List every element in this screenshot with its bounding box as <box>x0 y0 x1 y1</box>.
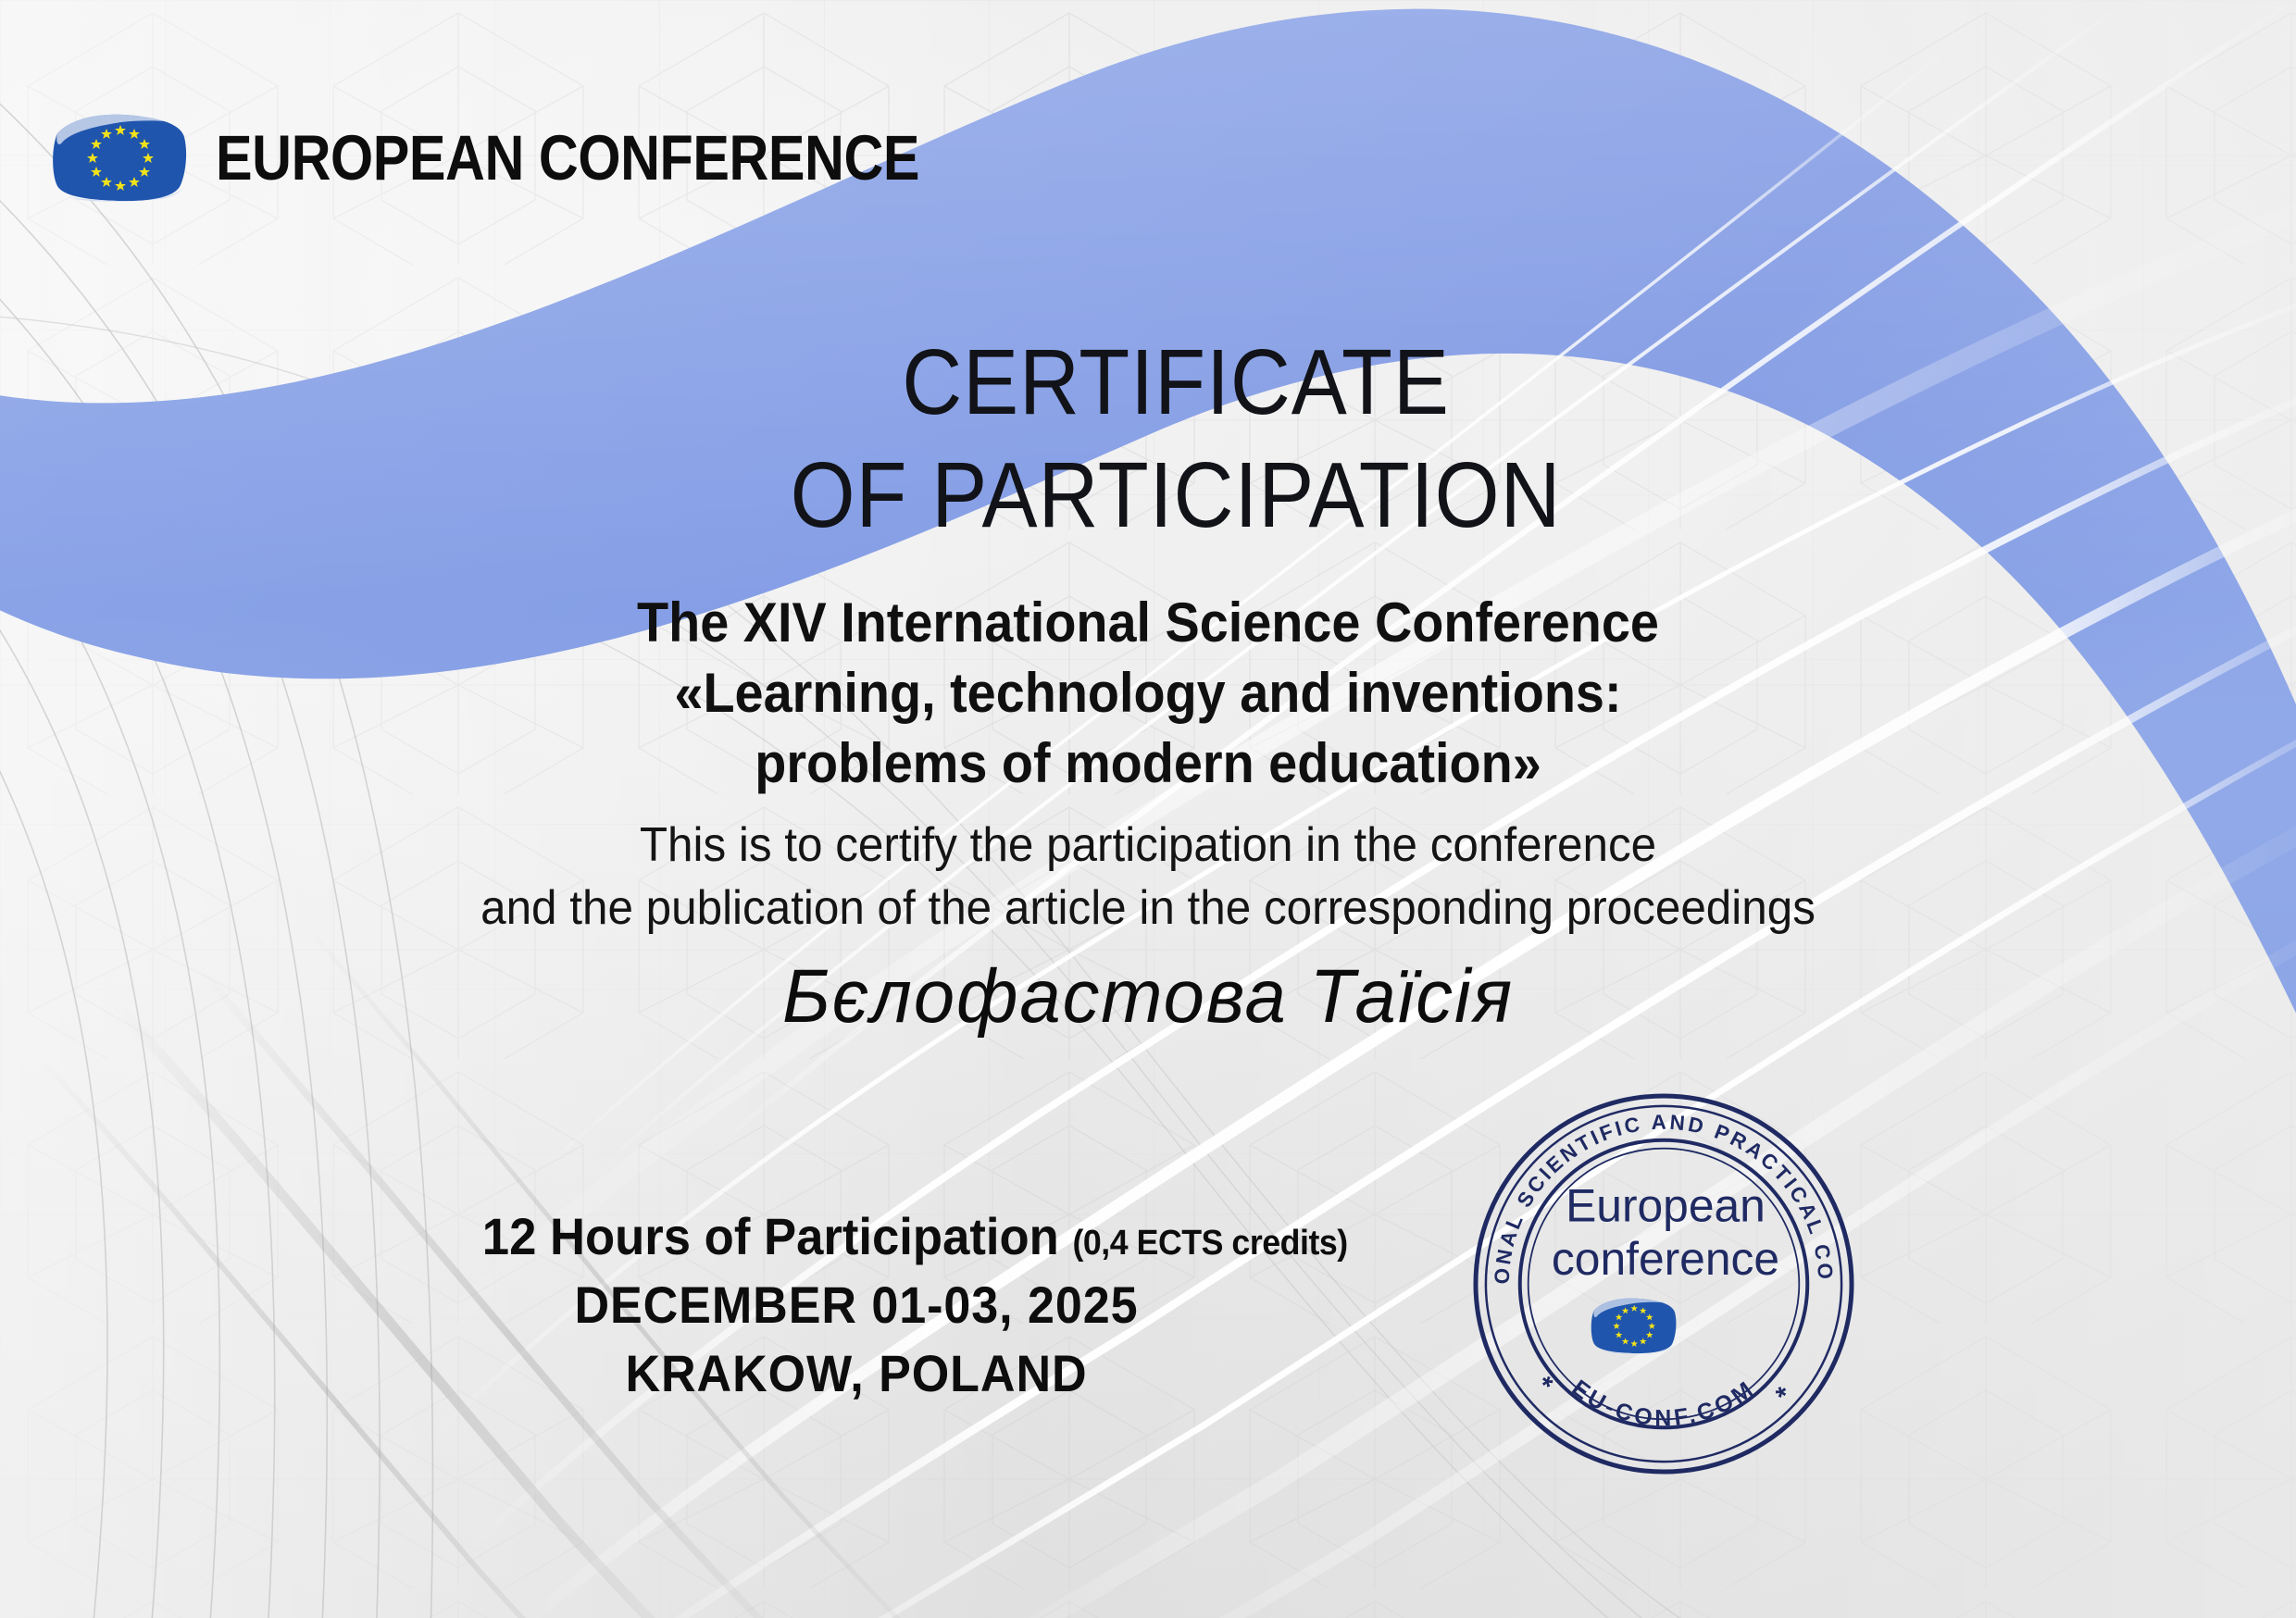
conference-line-1: The XIV International Science Conference <box>81 588 2215 658</box>
conference-location: KRAKOW, POLAND <box>486 1339 1227 1408</box>
title-line-certificate: CERTIFICATE <box>168 326 2184 439</box>
seal-center-line-2: conference <box>1552 1233 1779 1285</box>
certify-statement: This is to certify the participation in … <box>0 815 2296 940</box>
eu-flag-icon <box>51 109 190 205</box>
title-line-of-participation: OF PARTICIPATION <box>168 439 2184 552</box>
participation-details: 12 Hours of Participation (0,4 ECTS cred… <box>458 1203 1254 1409</box>
conference-line-3: problems of modern education» <box>81 728 2215 799</box>
conference-name: The XIV International Science Conference… <box>0 588 2296 800</box>
seal-graphic: INTERNATIONAL SCIENTIFIC AND PRACTICAL C… <box>1470 1090 1857 1477</box>
page-title: CERTIFICATE OF PARTICIPATION <box>0 326 2296 552</box>
eu-flag-icon <box>1591 1299 1677 1354</box>
seal-center-line-1: European <box>1566 1179 1766 1231</box>
official-seal: INTERNATIONAL SCIENTIFIC AND PRACTICAL C… <box>1470 1090 1857 1477</box>
certify-line-2: and the publication of the article in th… <box>57 877 2239 940</box>
conference-line-2: «Learning, technology and inventions: <box>81 658 2215 728</box>
certify-line-1: This is to certify the participation in … <box>57 815 2239 877</box>
hours-value: 12 Hours of Participation <box>482 1207 1059 1265</box>
certificate-page: EUROPEAN CONFERENCE CERTIFICATE OF PARTI… <box>0 0 2296 1618</box>
ects-credits-note: (0,4 ECTS credits) <box>1072 1224 1347 1263</box>
header: EUROPEAN CONFERENCE <box>51 109 1034 205</box>
participant-name: Бєлофастова Таїсія <box>34 953 2262 1040</box>
hours-of-participation: 12 Hours of Participation (0,4 ECTS cred… <box>482 1203 1230 1271</box>
brand-title: EUROPEAN CONFERENCE <box>216 126 919 190</box>
seal-outer-bottom-text: EU-CONF.COM <box>1567 1375 1761 1431</box>
conference-date: DECEMBER 01-03, 2025 <box>486 1271 1227 1339</box>
